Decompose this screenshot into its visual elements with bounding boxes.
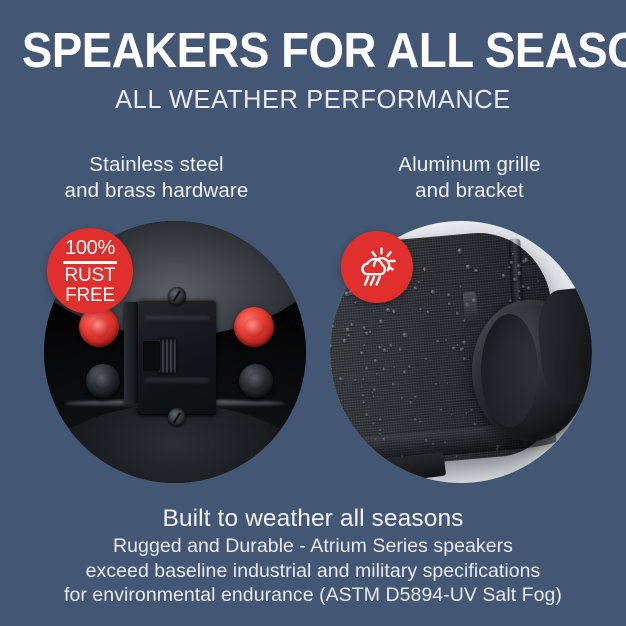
screw-top	[168, 287, 186, 305]
caption-left: Stainless steel and brass hardware	[0, 152, 313, 204]
badge-percent-label: 100%	[65, 237, 115, 259]
rust-free-badge: 100% RUST FREE	[47, 228, 133, 314]
caption-left-line1: Stainless steel	[0, 152, 313, 178]
caption-right: Aluminum grille and bracket	[313, 152, 626, 204]
weather-badge	[341, 231, 413, 303]
grille-tab	[462, 291, 477, 326]
header: SPEAKERS FOR ALL SEASONS ALL WEATHER PER…	[0, 24, 626, 114]
footer-line-2: exceed baseline industrial and military …	[0, 559, 626, 584]
badge-word-free: FREE	[65, 286, 115, 306]
binding-post-black-left	[86, 364, 120, 398]
caption-right-line2: and bracket	[313, 178, 626, 204]
badge-word-rust: RUST	[65, 266, 116, 286]
caption-right-line1: Aluminum grille	[313, 152, 626, 178]
switch-plate	[138, 300, 215, 415]
caption-left-line2: and brass hardware	[0, 178, 313, 204]
binding-post-black-right	[239, 364, 273, 398]
product-infographic: SPEAKERS FOR ALL SEASONS ALL WEATHER PER…	[0, 0, 626, 626]
footer-copy: Built to weather all seasons Rugged and …	[0, 504, 626, 608]
mounting-bracket-strip	[124, 302, 138, 404]
switch-slot	[143, 341, 160, 371]
embossed-label-top	[145, 316, 208, 324]
footer-line-1: Rugged and Durable - Atrium Series speak…	[0, 534, 626, 559]
knob-lip	[481, 314, 539, 427]
footer-headline: Built to weather all seasons	[0, 504, 626, 534]
slider-switch	[158, 339, 177, 374]
footer-line-3: for environmental endurance (ASTM D5894-…	[0, 583, 626, 608]
embossed-label-bottom	[145, 378, 208, 386]
sun-cloud-rain-icon	[354, 244, 400, 290]
page-title: SPEAKERS FOR ALL SEASONS	[22, 24, 604, 78]
page-subtitle: ALL WEATHER PERFORMANCE	[6, 84, 619, 114]
badge-divider	[63, 261, 117, 264]
feature-captions: Stainless steel and brass hardware Alumi…	[0, 152, 626, 204]
